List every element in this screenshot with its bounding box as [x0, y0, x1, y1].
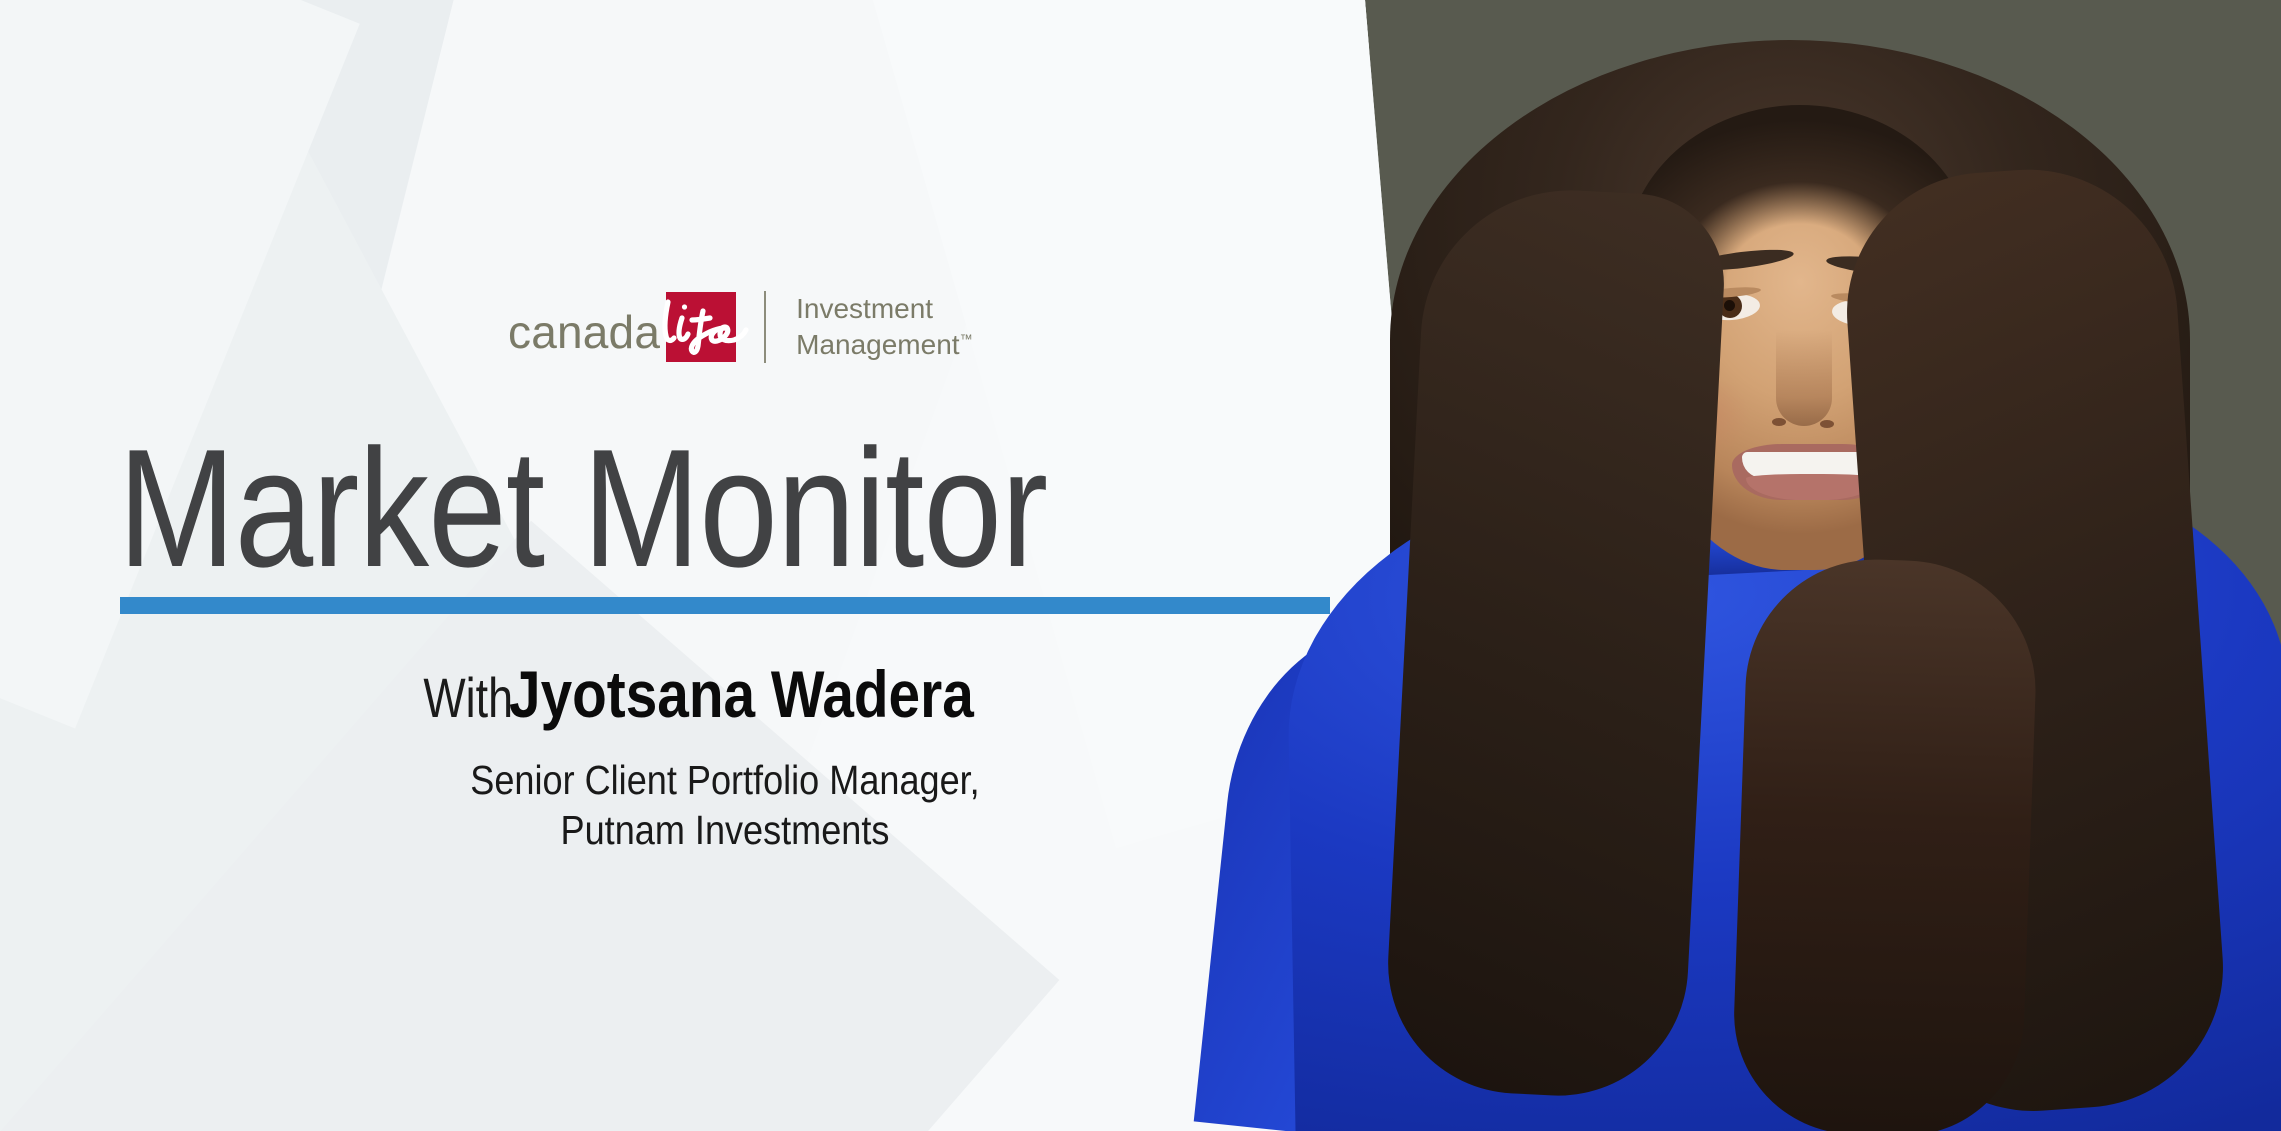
- nose: [1776, 330, 1832, 426]
- trademark-symbol: ™: [960, 332, 973, 347]
- background-facet: [0, 0, 360, 728]
- logo-life-mark: [666, 292, 736, 362]
- hair-strand-front: [1730, 555, 2040, 1131]
- presenter-name-line: WithJyotsana Wadera: [120, 660, 1330, 729]
- nostril-left: [1772, 418, 1786, 426]
- with-label: With: [423, 669, 513, 728]
- pupil-left: [1724, 300, 1735, 311]
- presenter-name: Jyotsana Wadera: [509, 660, 974, 729]
- logo-descriptor-line1: Investment: [796, 293, 933, 324]
- logo-divider: [764, 291, 766, 363]
- hair-strand-left: [1382, 183, 1729, 1102]
- background-facet: [0, 100, 844, 1131]
- logo-wordmark-canada: canada: [508, 309, 660, 355]
- presenter-role-line1: Senior Client Portfolio Manager,: [193, 755, 1258, 805]
- presenter-role-line2: Putnam Investments: [193, 805, 1258, 855]
- life-script-icon: [658, 296, 750, 358]
- logo-descriptor-line2: Management: [796, 329, 959, 360]
- logo-descriptor: Investment Management™: [796, 291, 972, 364]
- presenter-block: WithJyotsana Wadera Senior Client Portfo…: [120, 660, 1330, 855]
- nostril-right: [1820, 420, 1834, 428]
- presenter-role: Senior Client Portfolio Manager, Putnam …: [120, 755, 1330, 855]
- presenter-portrait: [1180, 0, 2281, 1131]
- market-monitor-banner: canada Investment Management™ Market Mon…: [0, 0, 2281, 1131]
- page-title: Market Monitor: [118, 424, 1143, 592]
- canada-life-logo: canada Investment Management™: [508, 286, 973, 368]
- title-underline-rule: [120, 597, 1330, 614]
